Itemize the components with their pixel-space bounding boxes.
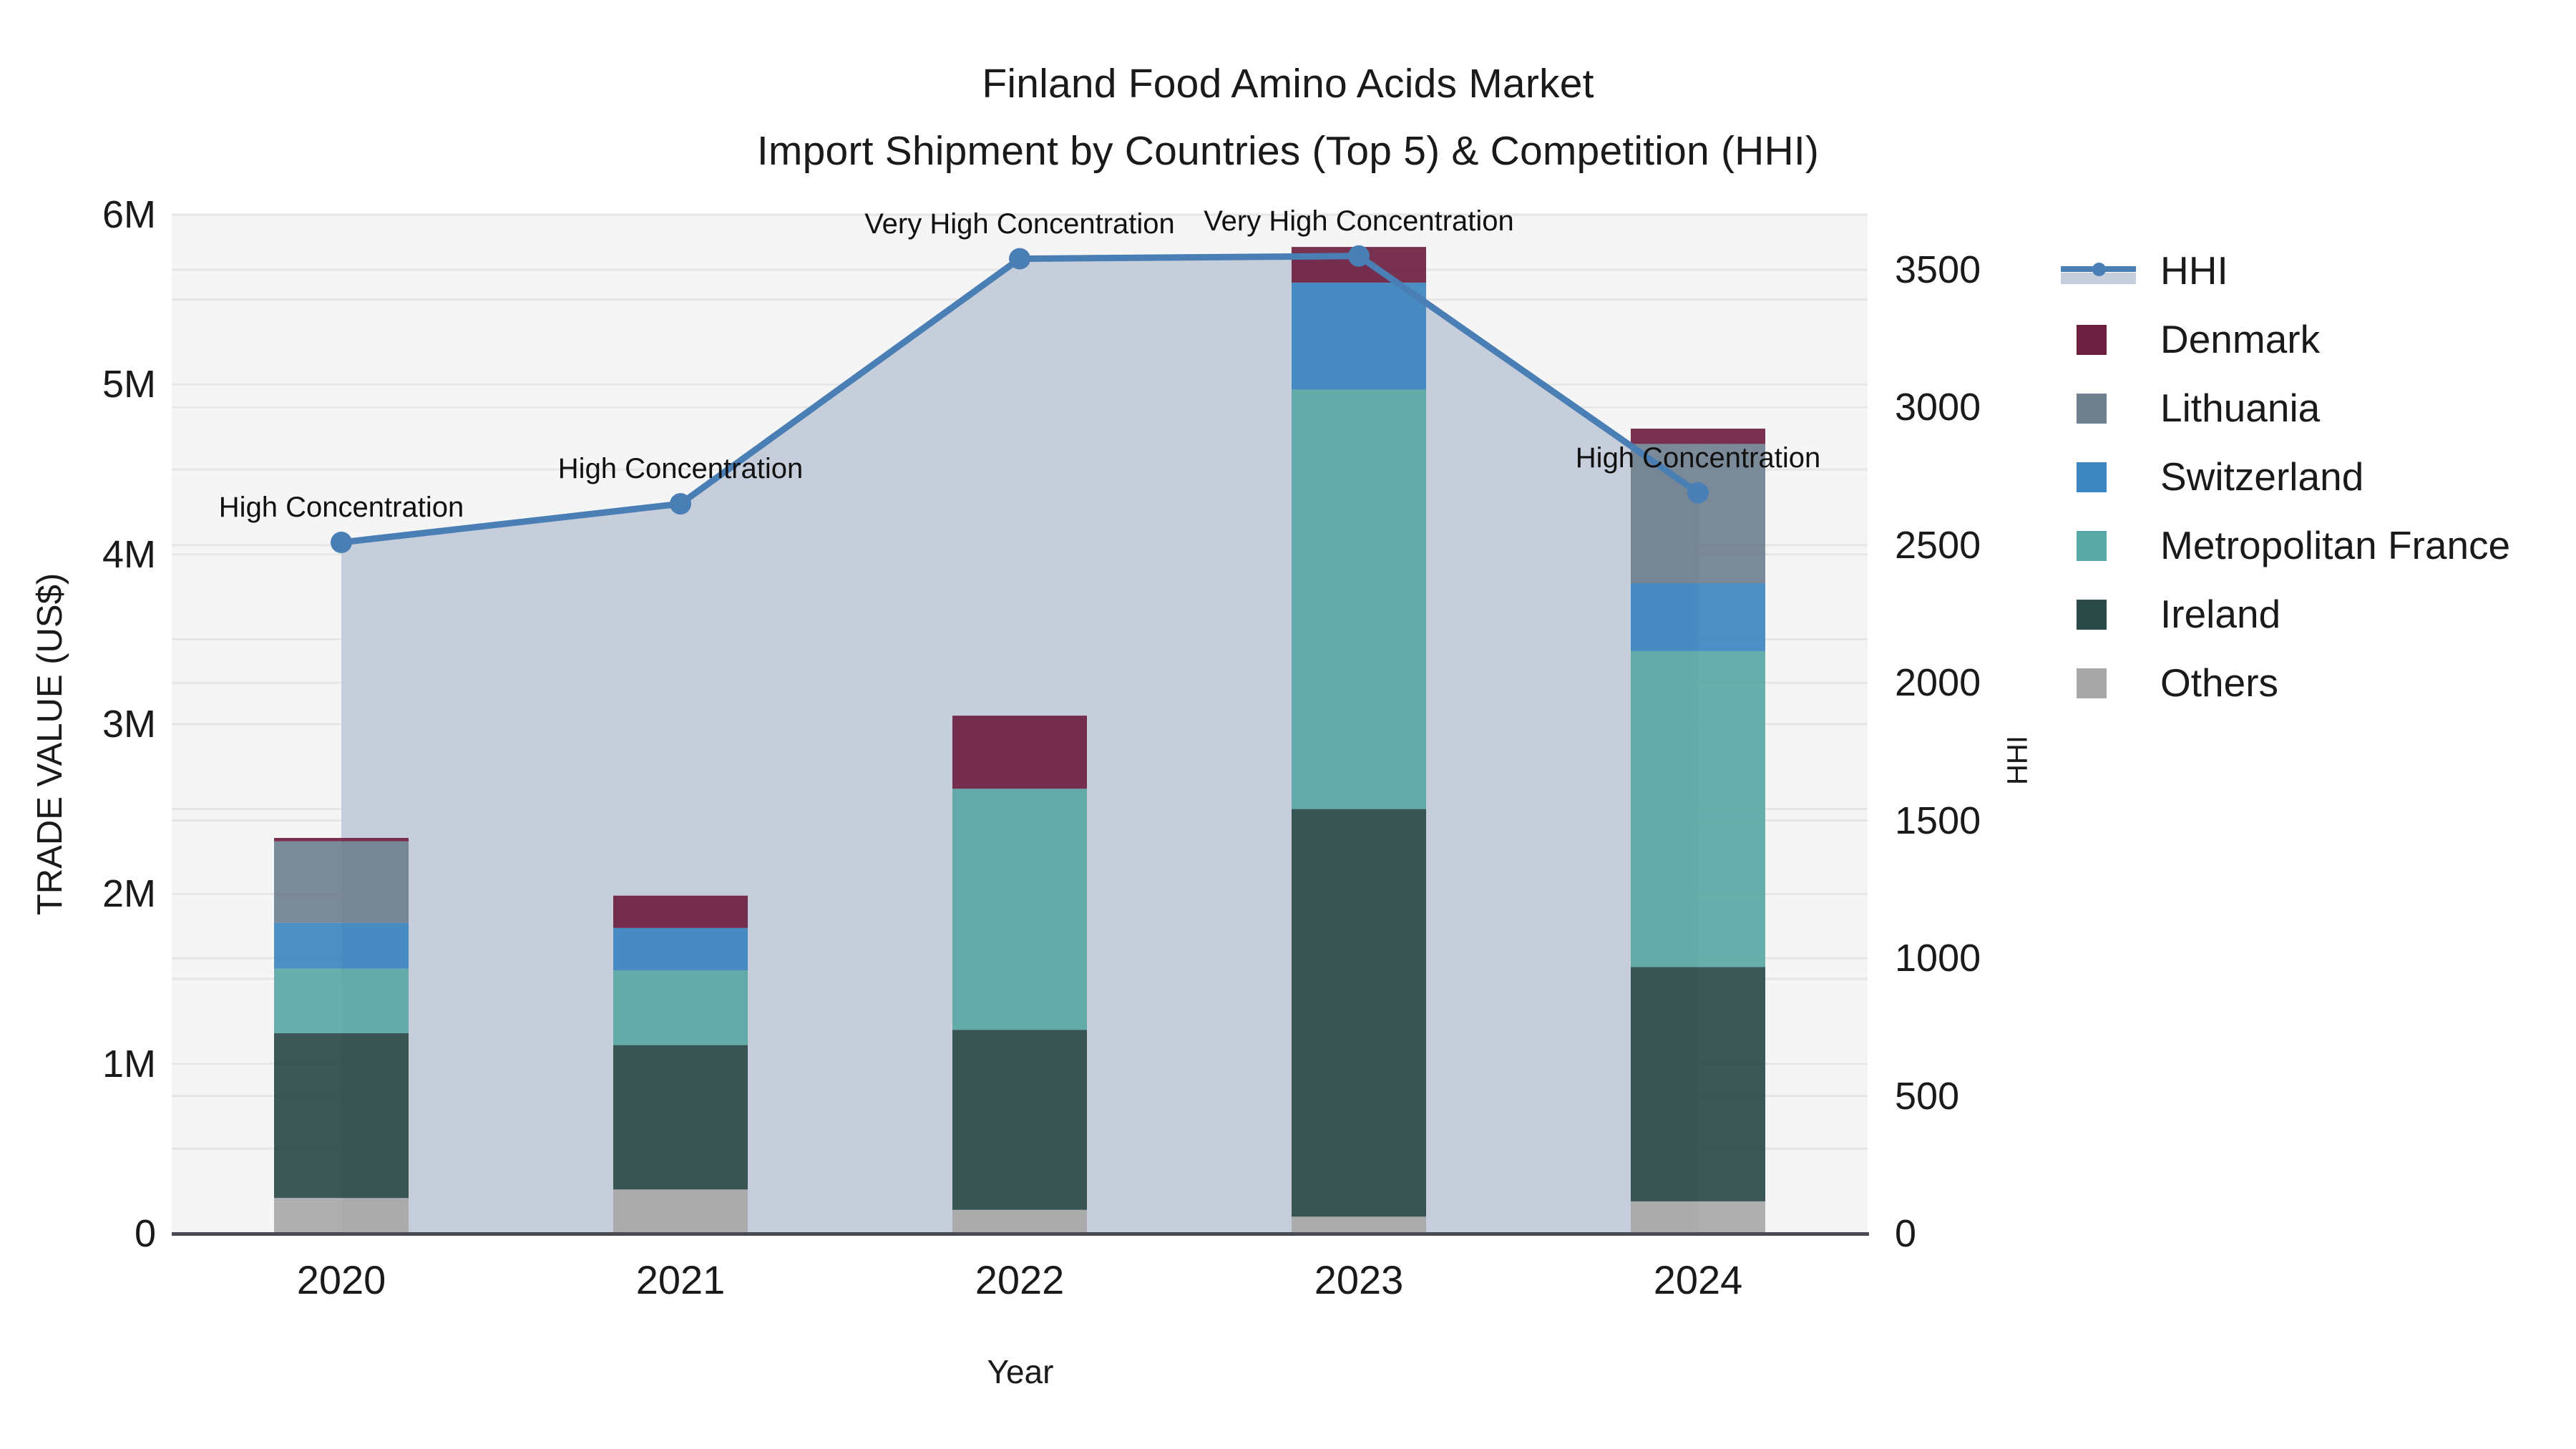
- legend-item-others[interactable]: Others: [2061, 648, 2510, 717]
- bar-segment-others: [613, 1189, 748, 1234]
- bar-segment-metropolitan-france: [1292, 389, 1426, 809]
- y-axis-right-title: HHI: [2002, 675, 2034, 847]
- legend-item-label: HHI: [2160, 248, 2228, 293]
- legend-color-swatch: [2077, 394, 2107, 424]
- hhi-marker-2021[interactable]: [670, 493, 691, 514]
- legend-item-label: Lithuania: [2160, 385, 2320, 431]
- x-axis-tick-2024: 2024: [1654, 1257, 1743, 1303]
- y-axis-left-tick: 0: [135, 1211, 156, 1256]
- y-axis-left-tick: 4M: [102, 532, 156, 577]
- bar-segment-metropolitan-france: [952, 789, 1087, 1030]
- legend-item-denmark[interactable]: Denmark: [2061, 305, 2510, 374]
- y-axis-right-tick: 2000: [1895, 660, 1981, 705]
- legend-item-label: Others: [2160, 660, 2278, 706]
- bar-segment-ireland: [274, 1033, 409, 1198]
- hhi-marker-2023[interactable]: [1348, 245, 1370, 267]
- bar-segment-ireland: [1292, 809, 1426, 1217]
- y-axis-left-tick: 1M: [102, 1042, 156, 1086]
- bar-segment-denmark: [952, 716, 1087, 789]
- plot-canvas: [172, 215, 1868, 1234]
- chart-title-line-2: Import Shipment by Countries (Top 5) & C…: [0, 117, 2576, 185]
- y-axis-left-title: TRADE VALUE (US$): [30, 472, 70, 1016]
- bar-segment-others: [1292, 1216, 1426, 1234]
- legend-key-icon: [2061, 529, 2136, 562]
- bar-segment-lithuania: [274, 841, 409, 923]
- legend-key-icon: [2061, 391, 2136, 424]
- legend-key-icon: [2061, 254, 2136, 287]
- x-axis-line: [172, 1232, 1869, 1236]
- legend-item-switzerland[interactable]: Switzerland: [2061, 442, 2510, 511]
- legend: HHIDenmarkLithuaniaSwitzerlandMetropolit…: [2061, 236, 2510, 717]
- y-axis-right-tick: 0: [1895, 1211, 1916, 1256]
- bar-segment-ireland: [613, 1045, 748, 1190]
- y-axis-right-tick: 3500: [1895, 248, 1981, 292]
- bar-segment-others: [952, 1210, 1087, 1234]
- chart-title: Finland Food Amino Acids Market Import S…: [0, 50, 2576, 185]
- bar-segment-denmark: [1631, 429, 1765, 444]
- bar-segment-denmark: [274, 838, 409, 841]
- legend-key-icon: [2061, 323, 2136, 356]
- bar-segment-switzerland: [1292, 283, 1426, 390]
- bar-segment-metropolitan-france: [613, 970, 748, 1045]
- y-axis-right-tick: 1500: [1895, 799, 1981, 843]
- legend-item-label: Ireland: [2160, 591, 2280, 637]
- y-axis-left-tick: 6M: [102, 192, 156, 237]
- legend-color-swatch: [2077, 531, 2107, 561]
- legend-key-icon: [2061, 460, 2136, 493]
- bar-segment-lithuania: [1631, 444, 1765, 583]
- legend-item-label: Metropolitan France: [2160, 522, 2510, 568]
- legend-color-swatch: [2077, 462, 2107, 492]
- bar-segment-metropolitan-france: [1631, 651, 1765, 967]
- y-axis-right-tick: 500: [1895, 1074, 1959, 1118]
- y-axis-left-tick: 2M: [102, 872, 156, 916]
- chart-title-line-1: Finland Food Amino Acids Market: [0, 50, 2576, 117]
- bar-segment-others: [274, 1198, 409, 1234]
- x-axis-tick-2023: 2023: [1314, 1257, 1404, 1303]
- hhi-marker-2022[interactable]: [1009, 248, 1030, 270]
- bar-segment-metropolitan-france: [274, 969, 409, 1033]
- hhi-marker-2024[interactable]: [1687, 482, 1709, 504]
- bar-segment-switzerland: [613, 928, 748, 970]
- x-axis-title: Year: [172, 1352, 1869, 1391]
- hhi-marker-2020[interactable]: [331, 532, 352, 553]
- legend-color-swatch: [2077, 325, 2107, 355]
- legend-item-metropolitan-france[interactable]: Metropolitan France: [2061, 511, 2510, 580]
- x-axis-tick-2020: 2020: [297, 1257, 386, 1303]
- bar-segment-others: [1631, 1201, 1765, 1234]
- bar-segment-ireland: [1631, 967, 1765, 1201]
- bar-segment-switzerland: [274, 923, 409, 969]
- legend-color-swatch: [2077, 600, 2107, 630]
- legend-item-label: Switzerland: [2160, 454, 2363, 499]
- legend-item-ireland[interactable]: Ireland: [2061, 580, 2510, 648]
- bar-segment-denmark: [613, 896, 748, 928]
- y-axis-left-tick: 5M: [102, 362, 156, 406]
- legend-key-icon: [2061, 597, 2136, 630]
- legend-item-label: Denmark: [2160, 316, 2320, 362]
- x-axis-tick-2022: 2022: [975, 1257, 1065, 1303]
- legend-color-swatch: [2077, 668, 2107, 698]
- legend-item-lithuania[interactable]: Lithuania: [2061, 374, 2510, 442]
- plot-area: [172, 215, 1868, 1234]
- legend-key-icon: [2061, 666, 2136, 699]
- y-axis-right-tick: 1000: [1895, 936, 1981, 980]
- legend-marker-dot-icon: [2092, 263, 2106, 276]
- legend-item-hhi[interactable]: HHI: [2061, 236, 2510, 305]
- bar-segment-ireland: [952, 1030, 1087, 1210]
- y-axis-right-tick: 2500: [1895, 523, 1981, 567]
- x-axis-tick-2021: 2021: [636, 1257, 726, 1303]
- bar-segment-switzerland: [1631, 583, 1765, 651]
- y-axis-right-tick: 3000: [1895, 385, 1981, 429]
- y-axis-left-tick: 3M: [102, 702, 156, 746]
